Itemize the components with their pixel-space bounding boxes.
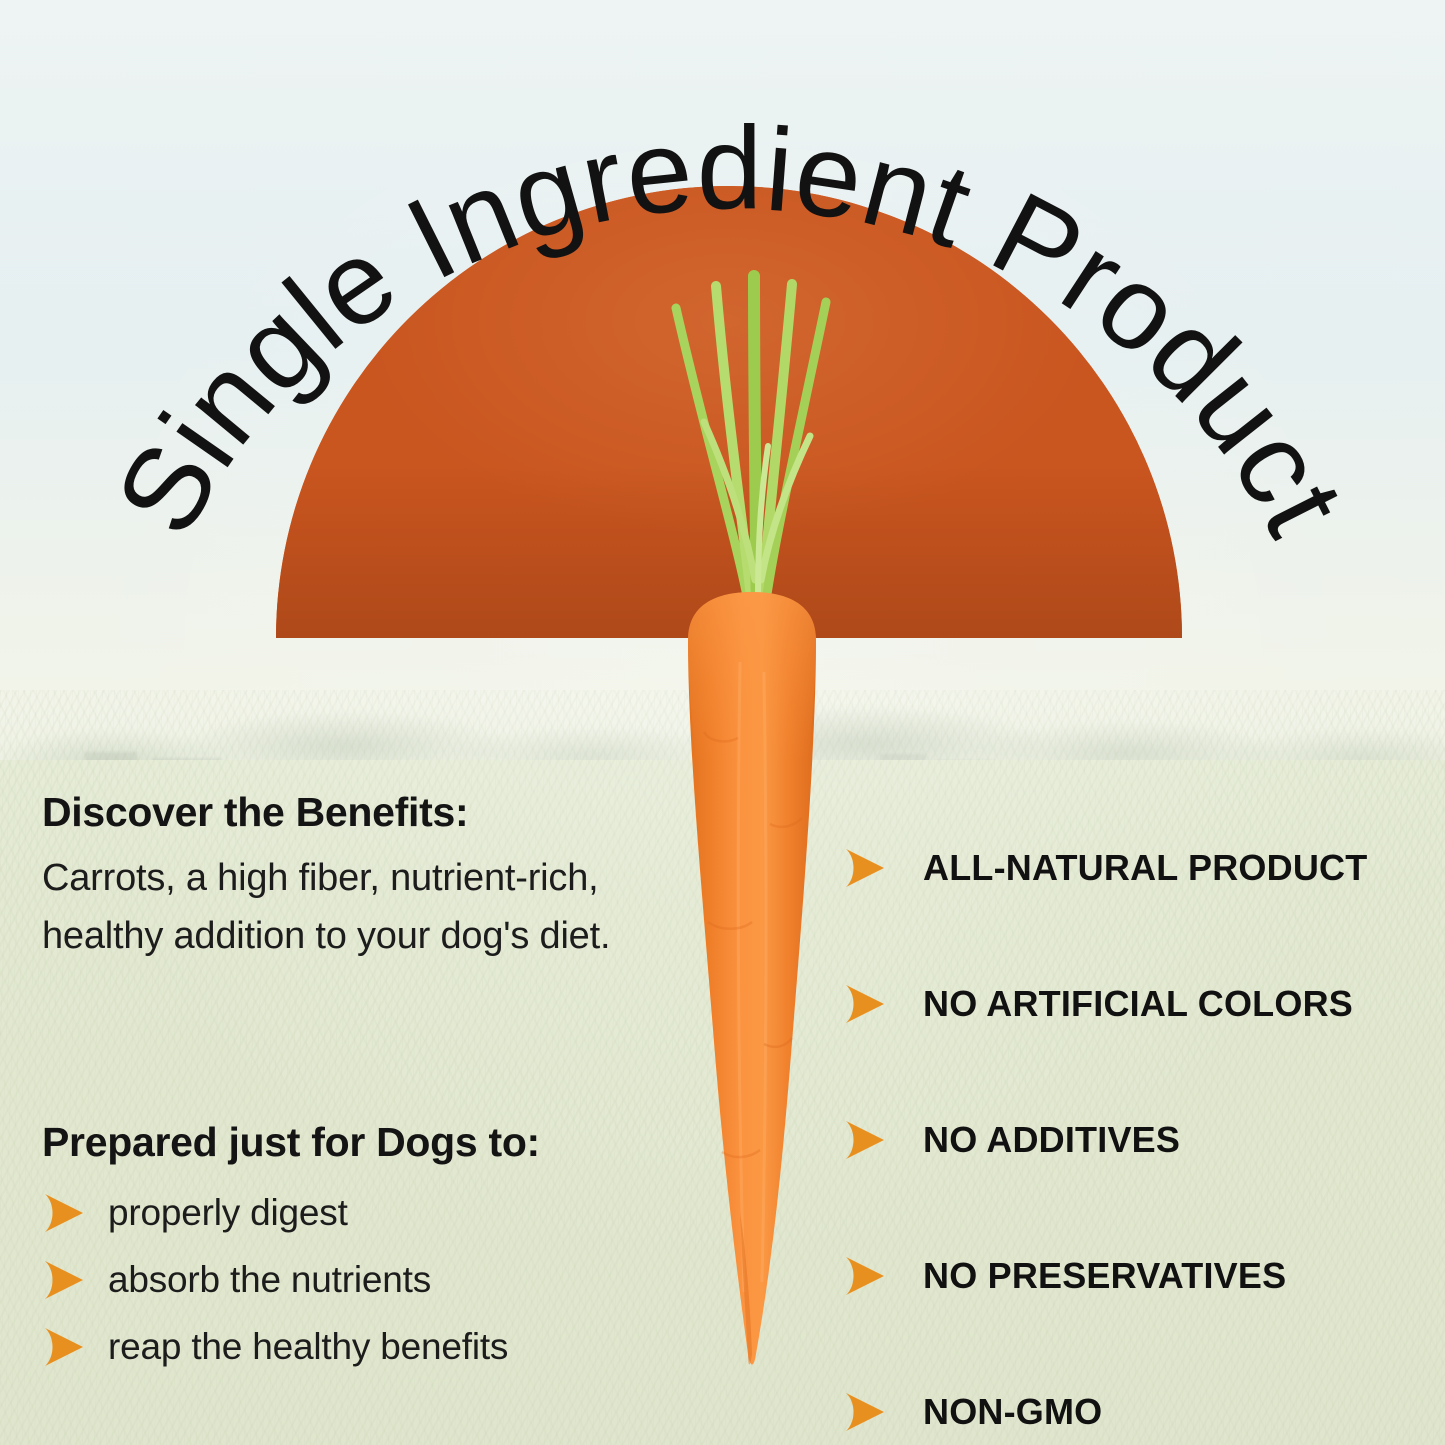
carrot-greens	[620, 250, 880, 650]
claim-label: NON-GMO	[923, 1391, 1102, 1433]
claim-label: NO ARTIFICIAL COLORS	[923, 983, 1353, 1025]
arrow-right-icon	[843, 1255, 887, 1297]
arrow-right-icon	[42, 1326, 86, 1368]
carrot-body	[652, 592, 852, 1382]
arrow-right-icon	[42, 1259, 86, 1301]
arrow-right-icon	[843, 847, 887, 889]
prepared-item-label: properly digest	[108, 1192, 348, 1234]
arrow-right-icon	[42, 1192, 86, 1234]
claims-list: ALL-NATURAL PRODUCT NO ARTIFICIAL COLORS…	[843, 800, 1423, 1445]
prepared-item-label: absorb the nutrients	[108, 1259, 431, 1301]
claim-label: NO PRESERVATIVES	[923, 1255, 1286, 1297]
list-item: ALL-NATURAL PRODUCT	[843, 800, 1423, 936]
claim-label: ALL-NATURAL PRODUCT	[923, 847, 1367, 889]
list-item: NO ARTIFICIAL COLORS	[843, 936, 1423, 1072]
arrow-right-icon	[843, 1391, 887, 1433]
benefits-block: Discover the Benefits: Carrots, a high f…	[42, 790, 642, 965]
benefits-heading: Discover the Benefits:	[42, 790, 642, 836]
benefits-body: Carrots, a high fiber, nutrient-rich, he…	[42, 850, 642, 966]
arrow-right-icon	[843, 1119, 887, 1161]
list-item: NO ADDITIVES	[843, 1072, 1423, 1208]
list-item: NO PRESERVATIVES	[843, 1208, 1423, 1344]
arrow-right-icon	[843, 983, 887, 1025]
prepared-heading: Prepared just for Dogs to:	[42, 1120, 662, 1166]
claim-label: NO ADDITIVES	[923, 1119, 1180, 1161]
list-item: NON-GMO	[843, 1344, 1423, 1445]
list-item: reap the healthy benefits	[42, 1314, 662, 1381]
product-infographic: Single Ingredient Product	[0, 0, 1445, 1445]
claims-block: ALL-NATURAL PRODUCT NO ARTIFICIAL COLORS…	[843, 800, 1423, 1445]
prepared-list: properly digest absorb the nutrients rea…	[42, 1180, 662, 1381]
list-item: absorb the nutrients	[42, 1247, 662, 1314]
prepared-item-label: reap the healthy benefits	[108, 1326, 508, 1368]
prepared-block: Prepared just for Dogs to: properly dige…	[42, 1120, 662, 1381]
list-item: properly digest	[42, 1180, 662, 1247]
